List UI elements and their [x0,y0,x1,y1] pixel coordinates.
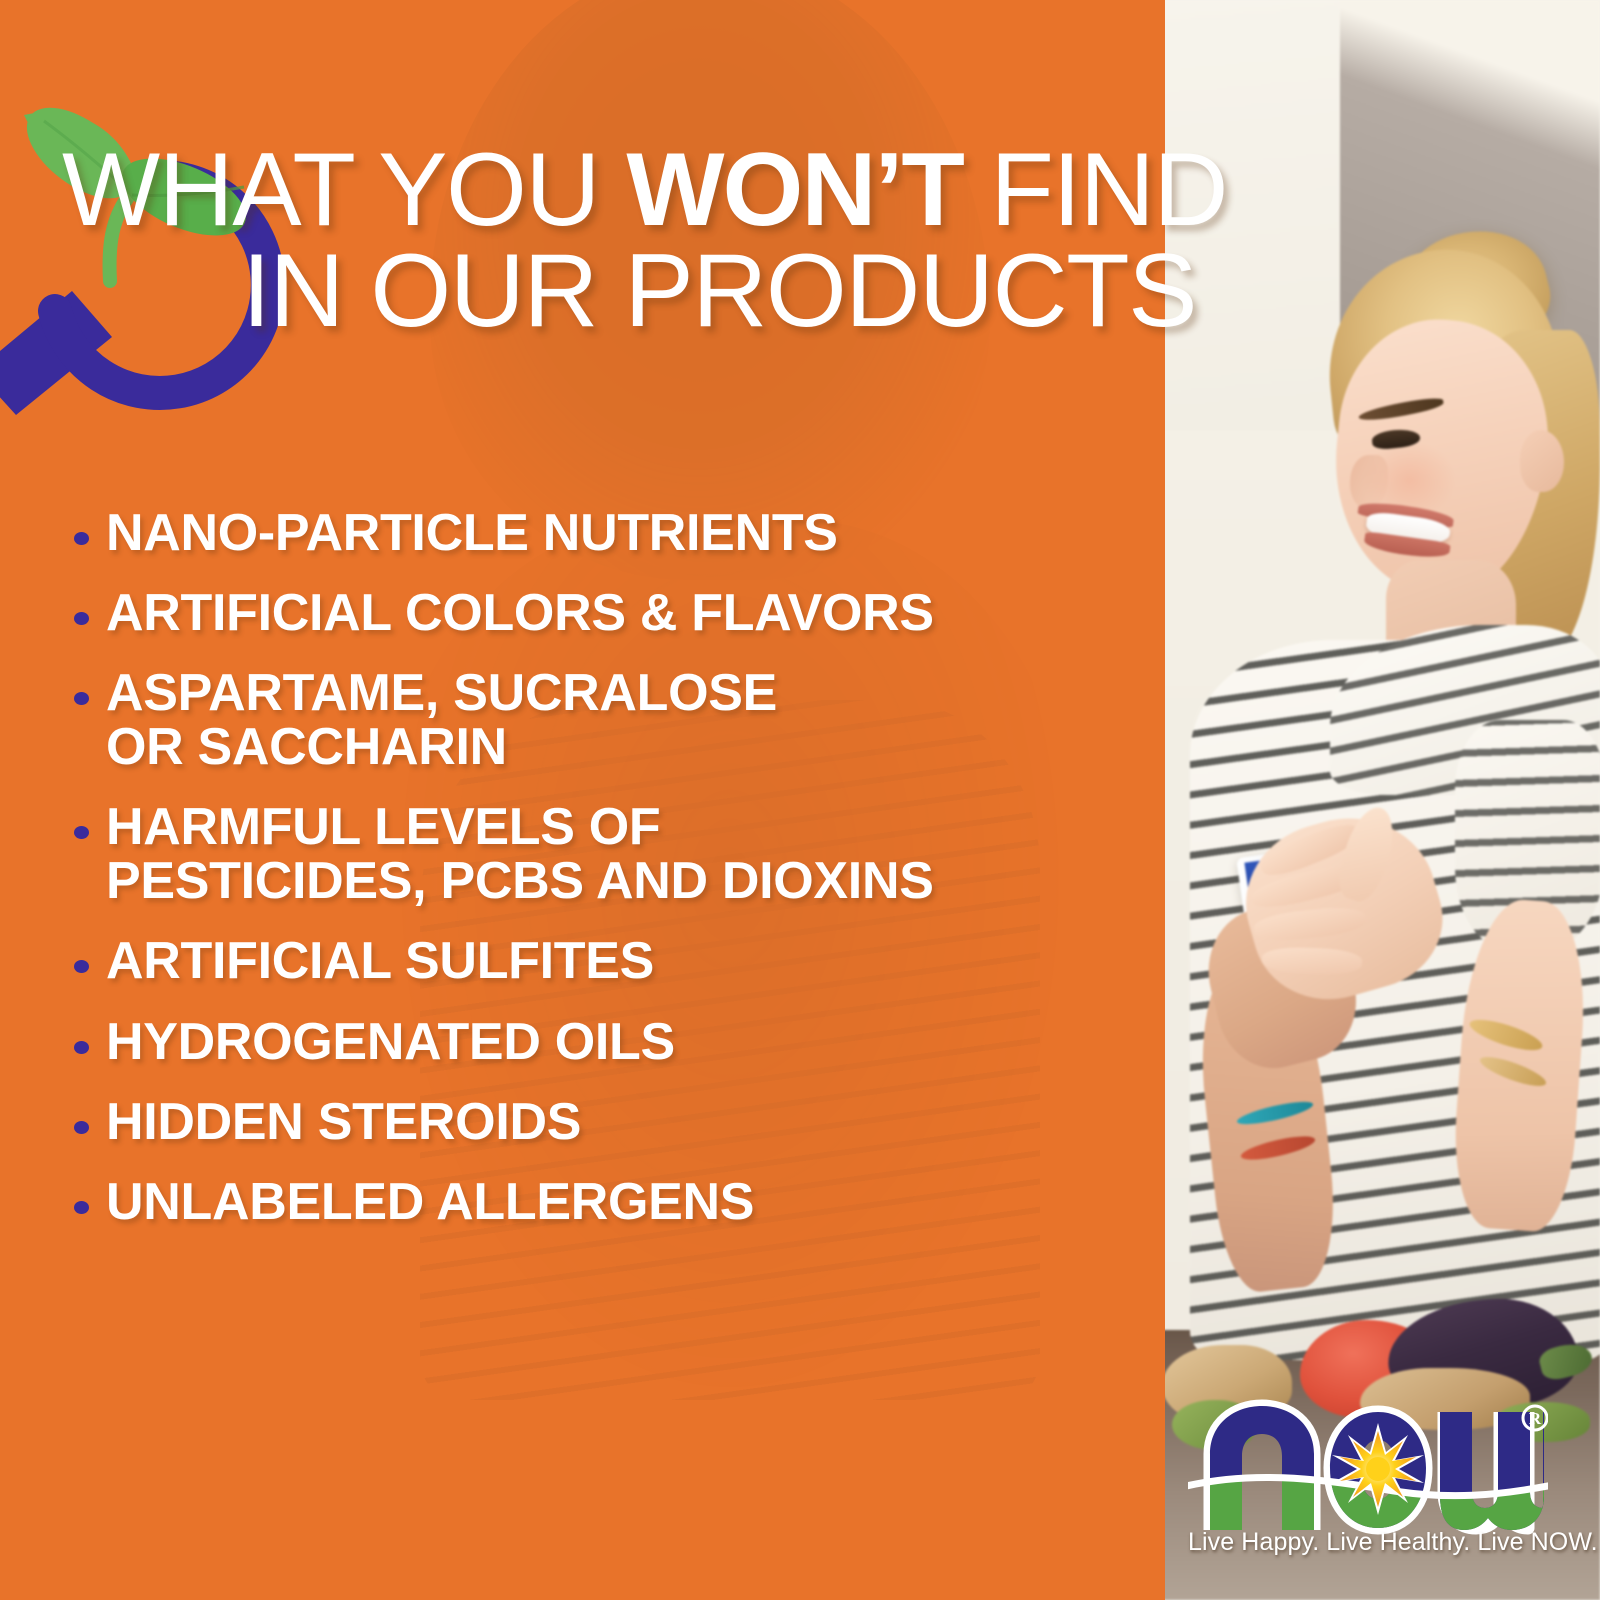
bullet-dot-icon [74,612,89,625]
list-item: ARTIFICIAL COLORS & FLAVORS [74,586,1134,640]
list-item-label: ARTIFICIAL COLORS & FLAVORS [106,586,934,640]
list-item-label: UNLABELED ALLERGENS [106,1175,754,1229]
bullet-dot-icon [74,1041,89,1054]
list-item: HIDDEN STEROIDS [74,1095,1134,1149]
list-item: ARTIFICIAL SULFITES [74,934,1134,988]
bullet-dot-icon [74,1121,89,1134]
headline-emphasis: WON’T [626,132,963,248]
ear [1520,430,1564,492]
headline-line1-pre: WHAT YOU [62,132,626,248]
page-title: WHAT YOU WON’T FIND IN OUR PRODUCTS [62,140,1512,342]
list-item: UNLABELED ALLERGENS [74,1175,1134,1229]
list-item-label: ASPARTAME, SUCRALOSE OR SACCHARIN [106,666,777,774]
bullet-dot-icon [74,1201,89,1214]
excluded-ingredients-list: NANO-PARTICLE NUTRIENTS ARTIFICIAL COLOR… [74,506,1134,1255]
bullet-dot-icon [74,692,89,705]
list-item: HARMFUL LEVELS OF PESTICIDES, PCBS AND D… [74,800,1134,908]
bullet-dot-icon [74,826,89,839]
poster-canvas: WHAT YOU WON’T FIND IN OUR PRODUCTS NANO… [0,0,1600,1600]
list-item: ASPARTAME, SUCRALOSE OR SACCHARIN [74,666,1134,774]
list-item-label: HIDDEN STEROIDS [106,1095,581,1149]
list-item-label: HARMFUL LEVELS OF PESTICIDES, PCBS AND D… [106,800,934,908]
list-item: HYDROGENATED OILS [74,1015,1134,1069]
list-item-label: ARTIFICIAL SULFITES [106,934,654,988]
bullet-dot-icon [74,960,89,973]
list-item: NANO-PARTICLE NUTRIENTS [74,506,1134,560]
list-item-label: HYDROGENATED OILS [106,1015,675,1069]
brand-tagline: Live Happy. Live Healthy. Live NOW. [1188,1528,1548,1557]
headline-line2: IN OUR PRODUCTS [62,241,1512,342]
list-item-label: NANO-PARTICLE NUTRIENTS [106,506,838,560]
headline-line1-post: FIND [963,132,1227,248]
bullet-dot-icon [74,532,89,545]
svg-text:R: R [1529,1409,1542,1428]
